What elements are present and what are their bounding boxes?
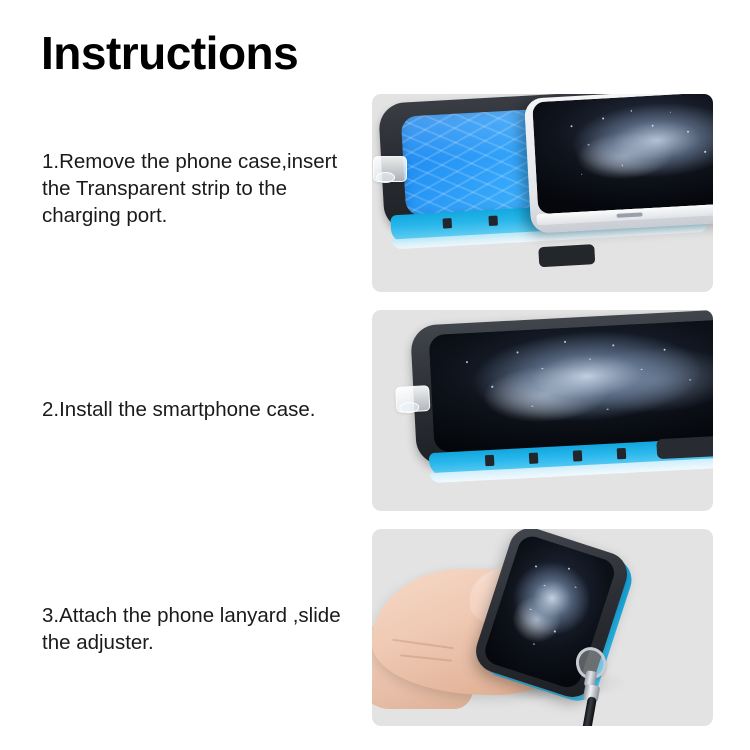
case-latch-tab <box>573 450 583 461</box>
instructions-page: Instructions 1.Remove the phone case,ins… <box>0 0 750 750</box>
phone-screen-wallpaper <box>532 94 713 214</box>
lanyard-cord <box>579 696 597 726</box>
step-3-image-panel <box>372 529 713 726</box>
case-latch-tab <box>617 448 627 459</box>
case-latch-tab <box>485 455 495 466</box>
phone-screen-wallpaper <box>428 319 713 453</box>
step-2-instruction-text: 2.Install the smartphone case. <box>42 396 362 423</box>
case-latch-tab <box>488 216 498 226</box>
case-latch-tab <box>529 452 539 463</box>
step-1-illustration <box>372 94 713 292</box>
phone-lanyard <box>572 647 642 726</box>
step-3-illustration <box>372 529 713 726</box>
step-3-instruction-text: 3.Attach the phone lanyard ,slide the ad… <box>42 602 362 656</box>
page-title: Instructions <box>41 29 298 77</box>
step-1-image-panel <box>372 94 713 292</box>
case-bottom-clip <box>538 244 595 267</box>
step-2-image-panel <box>372 310 713 511</box>
step-2-illustration <box>372 310 713 511</box>
transparent-strip-ring <box>376 172 395 183</box>
smartphone <box>524 94 713 234</box>
open-phone-case <box>378 94 713 267</box>
installed-phone-case <box>410 310 713 496</box>
case-latch-tab <box>442 218 452 228</box>
case-bottom-clip <box>656 436 713 459</box>
step-1-instruction-text: 1.Remove the phone case,insert the Trans… <box>42 148 362 229</box>
